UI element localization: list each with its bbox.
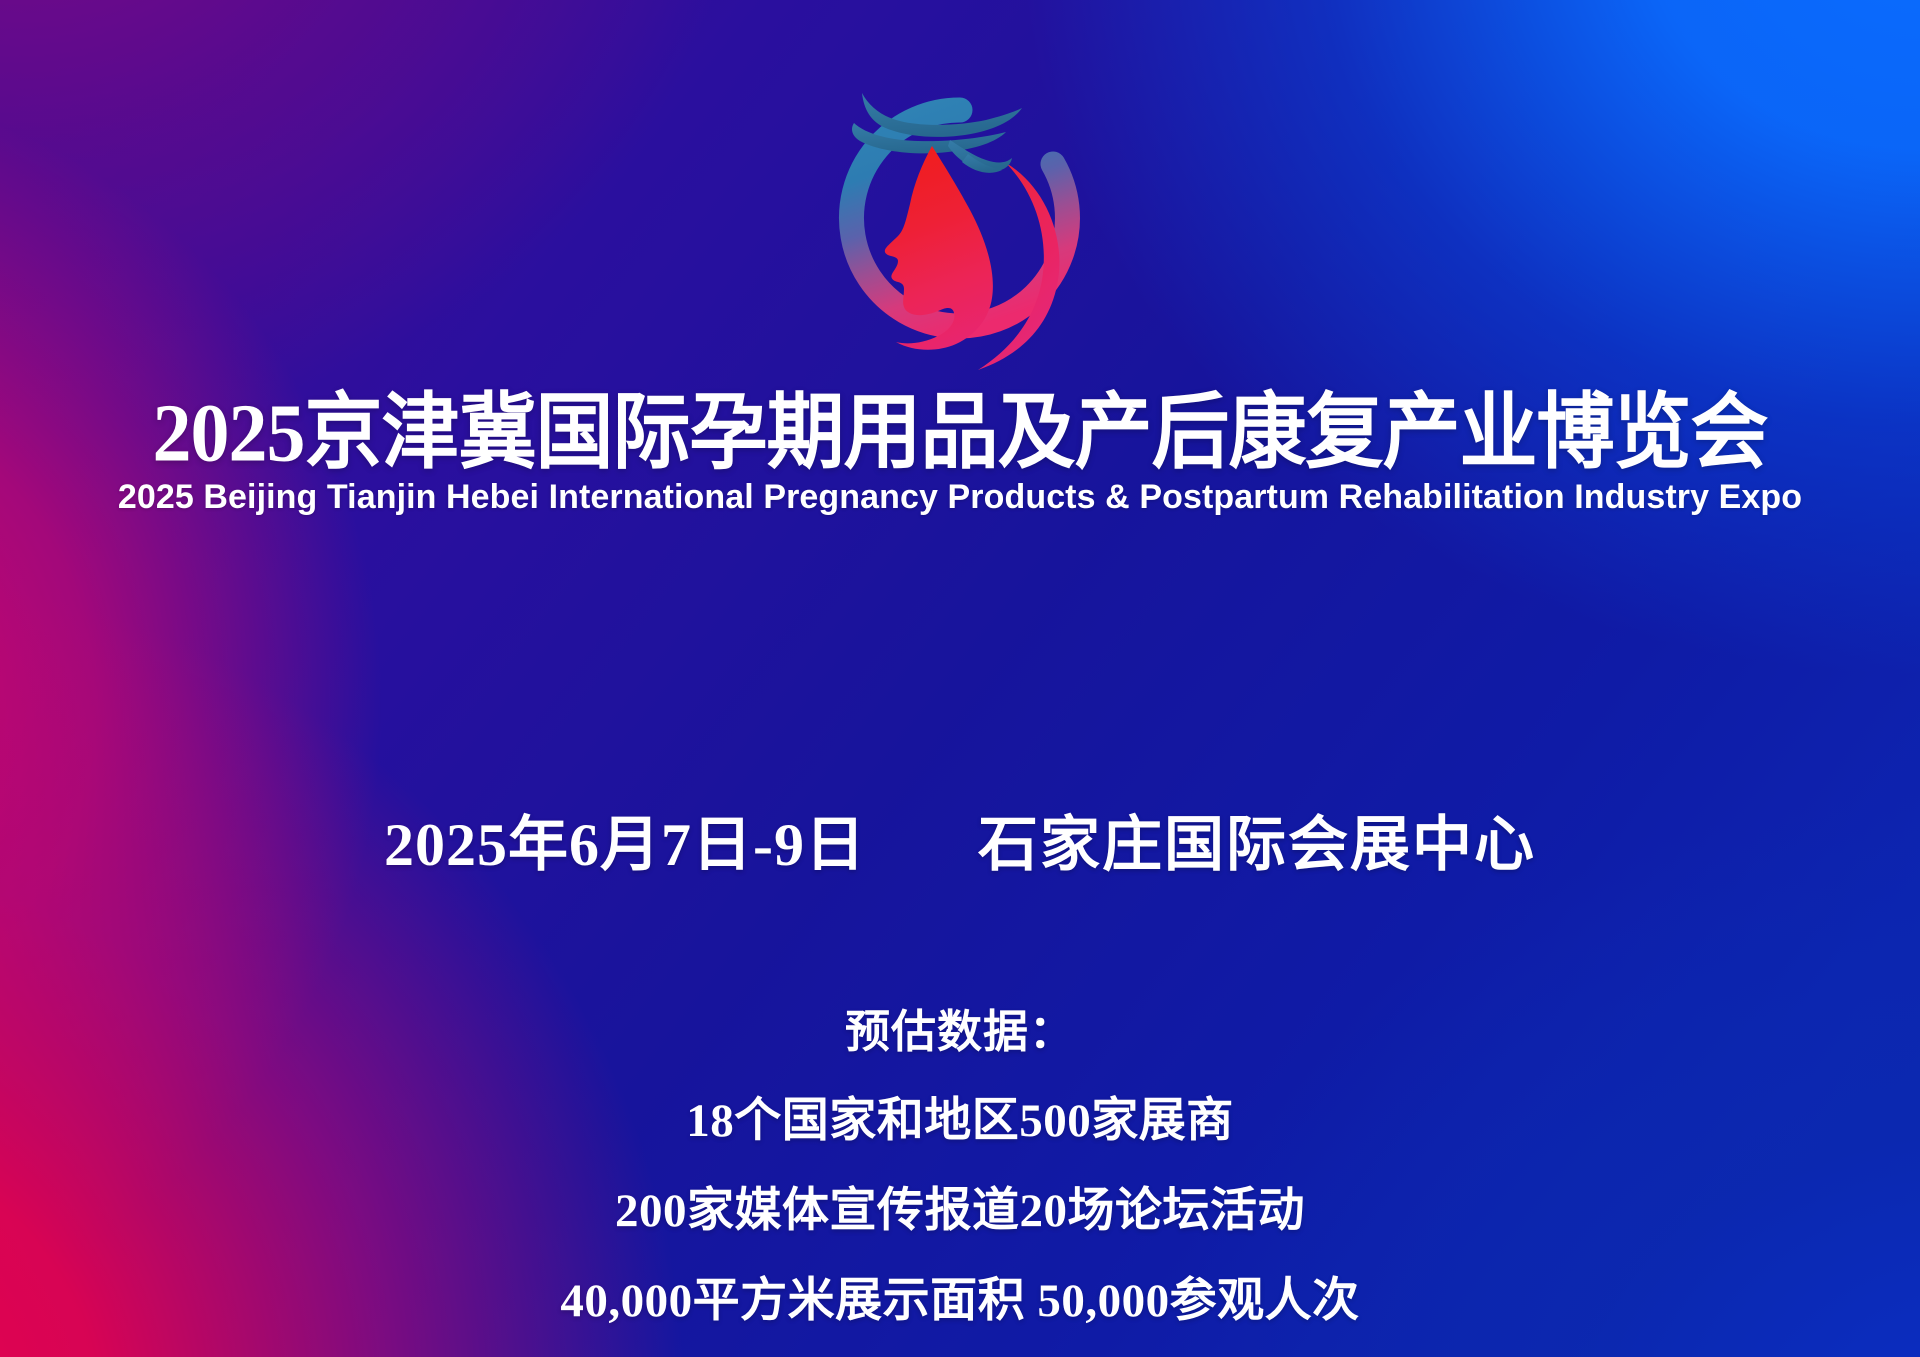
page-title-chinese: 2025京津冀国际孕期用品及产后康复产业博览会 xyxy=(0,390,1920,476)
title-block: 2025京津冀国际孕期用品及产后康复产业博览会 2025 Beijing Tia… xyxy=(0,392,1920,517)
estimated-stats: 预估数据： 18个国家和地区500家展商 200家媒体宣传报道20场论坛活动 4… xyxy=(0,1010,1920,1325)
stats-line-area-visitors: 40,000平方米展示面积 50,000参观人次 xyxy=(0,1278,1920,1325)
expo-logo xyxy=(810,68,1110,398)
stats-line-media: 200家媒体宣传报道20场论坛活动 xyxy=(0,1188,1920,1235)
event-venue: 石家庄国际会展中心 xyxy=(978,815,1536,875)
event-date: 2025年6月7日-9日 xyxy=(384,815,866,875)
event-meta-row: 2025年6月7日-9日 石家庄国际会展中心 xyxy=(0,815,1920,875)
stats-heading: 预估数据： xyxy=(0,1010,1920,1055)
expo-poster: 2025京津冀国际孕期用品及产后康复产业博览会 2025 Beijing Tia… xyxy=(0,0,1920,1357)
page-title-english: 2025 Beijing Tianjin Hebei International… xyxy=(14,478,1905,517)
stats-line-exhibitors: 18个国家和地区500家展商 xyxy=(0,1098,1920,1145)
